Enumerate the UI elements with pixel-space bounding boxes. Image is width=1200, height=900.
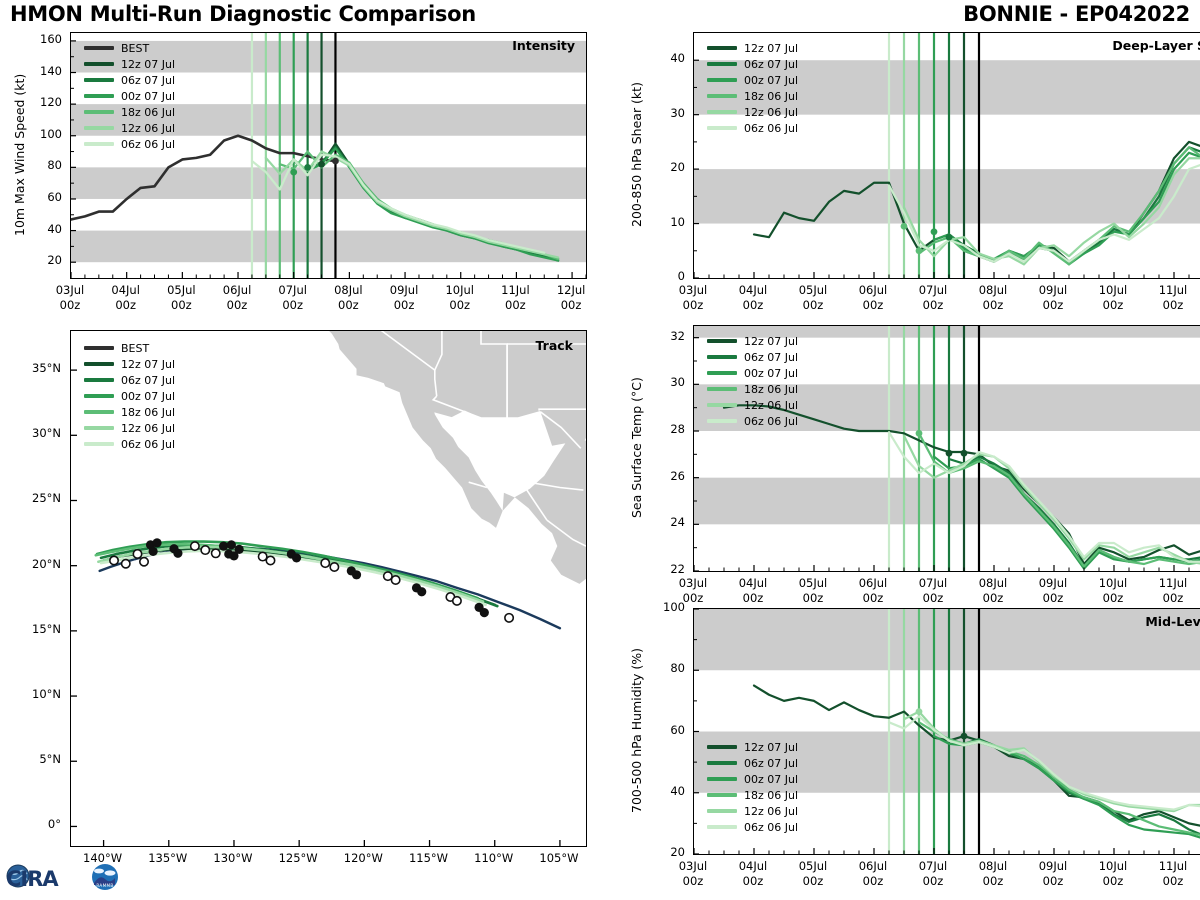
x-tick-sublabel: 00z: [1023, 298, 1083, 312]
x-tick-sublabel: 00z: [485, 298, 545, 312]
track-point-open: [122, 560, 130, 568]
legend-item: 00z 07 Jul: [707, 771, 798, 787]
x-tick-label: 11Jul: [485, 283, 545, 297]
legend-item: 18z 06 Jul: [707, 787, 798, 803]
legend-label: 06z 06 Jul: [121, 438, 175, 451]
legend-swatch: [84, 362, 114, 366]
track-point-filled: [292, 553, 301, 562]
series-marker: [901, 223, 908, 230]
legend-label: 18z 06 Jul: [744, 383, 798, 396]
x-tick-label: 07Jul: [903, 576, 963, 590]
x-tick-label: 05Jul: [783, 859, 843, 873]
x-tick-sublabel: 00z: [430, 298, 490, 312]
x-tick-label: 08Jul: [963, 859, 1023, 873]
legend-swatch: [707, 403, 737, 407]
track-point-filled: [219, 542, 228, 551]
track-point-open: [321, 559, 329, 567]
legend-item: 12z 06 Jul: [707, 803, 798, 819]
series-marker: [916, 430, 923, 437]
x-tick-sublabel: 00z: [903, 591, 963, 605]
legend-item: 06z 06 Jul: [84, 136, 175, 152]
legend-label: 12z 06 Jul: [744, 805, 798, 818]
track-point-open: [266, 556, 274, 564]
x-tick-label: 04Jul: [96, 283, 156, 297]
x-tick-label: 04Jul: [723, 859, 783, 873]
legend-label: 12z 06 Jul: [744, 106, 798, 119]
legend-label: 00z 07 Jul: [744, 74, 798, 87]
x-tick-sublabel: 00z: [1143, 591, 1200, 605]
x-tick-sublabel: 00z: [663, 298, 723, 312]
legend-label: 18z 06 Jul: [121, 106, 175, 119]
page-title: HMON Multi-Run Diagnostic Comparison: [10, 2, 476, 26]
legend-item: 06z 07 Jul: [707, 755, 798, 771]
x-tick-label: 10Jul: [1083, 283, 1143, 297]
x-tick-label: 11Jul: [1143, 576, 1200, 590]
legend-label: 06z 07 Jul: [744, 351, 798, 364]
legend-item: 12z 07 Jul: [707, 40, 798, 56]
legend-swatch: [84, 378, 114, 382]
x-tick-label: 03Jul: [663, 283, 723, 297]
x-tick-label: 05Jul: [783, 576, 843, 590]
legend-swatch: [707, 110, 737, 114]
legend-item: 12z 06 Jul: [707, 104, 798, 120]
x-tick-sublabel: 00z: [963, 874, 1023, 888]
legend-item: 18z 06 Jul: [84, 104, 175, 120]
x-tick-sublabel: 00z: [151, 298, 211, 312]
legend-label: 12z 07 Jul: [744, 42, 798, 55]
track-point-filled: [152, 538, 161, 547]
x-tick-label: 12Jul: [541, 283, 601, 297]
legend-track: BEST12z 07 Jul06z 07 Jul00z 07 Jul18z 06…: [84, 340, 175, 452]
x-tick-label: 09Jul: [1023, 859, 1083, 873]
legend-item: 18z 06 Jul: [84, 404, 175, 420]
shaded-band: [71, 167, 586, 199]
legend-label: 12z 07 Jul: [744, 335, 798, 348]
x-tick-sublabel: 00z: [783, 298, 843, 312]
legend-swatch: [707, 825, 737, 829]
track-point-open: [191, 542, 199, 550]
legend-label: 06z 07 Jul: [744, 757, 798, 770]
x-tick-sublabel: 00z: [263, 298, 323, 312]
lon-tick-label: 105°W: [524, 851, 594, 865]
legend-swatch: [84, 142, 114, 146]
track-point-open: [453, 597, 461, 605]
legend-label: 06z 07 Jul: [121, 374, 175, 387]
x-tick-sublabel: 00z: [963, 298, 1023, 312]
series-marker: [332, 158, 339, 165]
panel-track: 0°5°N10°N15°N20°N25°N30°N35°N140°W135°W1…: [8, 330, 591, 885]
lon-tick-label: 115°W: [394, 851, 464, 865]
lat-tick-label: 5°N: [8, 752, 61, 766]
track-point-open: [110, 556, 118, 564]
legend-item: 06z 06 Jul: [84, 436, 175, 452]
legend-swatch: [707, 419, 737, 423]
lat-tick-label: 15°N: [8, 622, 61, 636]
panel-rh: 2040608010003Jul00z04Jul00z05Jul00z06Jul…: [625, 608, 1200, 899]
legend-swatch: [84, 394, 114, 398]
x-tick-label: 08Jul: [963, 283, 1023, 297]
x-tick-label: 09Jul: [1023, 283, 1083, 297]
x-tick-sublabel: 00z: [1143, 298, 1200, 312]
track-point-open: [212, 549, 220, 557]
track-point-open: [330, 563, 338, 571]
legend-label: 12z 06 Jul: [121, 422, 175, 435]
legend-swatch: [84, 110, 114, 114]
series-marker: [318, 161, 325, 168]
x-tick-sublabel: 00z: [1083, 591, 1143, 605]
x-tick-label: 04Jul: [723, 283, 783, 297]
legend-label: 06z 06 Jul: [744, 821, 798, 834]
x-tick-label: 06Jul: [843, 283, 903, 297]
legend-rh: 12z 07 Jul06z 07 Jul00z 07 Jul18z 06 Jul…: [707, 739, 798, 835]
x-tick-label: 03Jul: [663, 576, 723, 590]
legend-swatch: [84, 62, 114, 66]
legend-item: 12z 07 Jul: [84, 356, 175, 372]
lat-tick-label: 20°N: [8, 557, 61, 571]
legend-item: 06z 06 Jul: [707, 120, 798, 136]
legend-swatch: [707, 761, 737, 765]
legend-item: 00z 07 Jul: [84, 88, 175, 104]
legend-item: 00z 07 Jul: [707, 72, 798, 88]
x-tick-sublabel: 00z: [1023, 874, 1083, 888]
series-marker: [961, 733, 968, 740]
legend-swatch: [84, 410, 114, 414]
legend-label: 00z 07 Jul: [744, 773, 798, 786]
legend-swatch: [84, 346, 114, 350]
legend-label: BEST: [121, 342, 149, 355]
x-tick-label: 11Jul: [1143, 283, 1200, 297]
legend-item: 00z 07 Jul: [84, 388, 175, 404]
legend-swatch: [707, 371, 737, 375]
series-marker: [916, 708, 923, 715]
x-tick-label: 06Jul: [843, 576, 903, 590]
legend-label: 00z 07 Jul: [744, 367, 798, 380]
x-tick-sublabel: 00z: [96, 298, 156, 312]
track-point-filled: [235, 545, 244, 554]
x-tick-sublabel: 00z: [1083, 298, 1143, 312]
track-point-filled: [352, 570, 361, 579]
legend-item: 06z 07 Jul: [707, 56, 798, 72]
x-tick-sublabel: 00z: [1083, 874, 1143, 888]
x-tick-sublabel: 00z: [40, 298, 100, 312]
series-marker: [304, 164, 311, 171]
x-tick-label: 05Jul: [151, 283, 211, 297]
series-marker: [931, 228, 938, 235]
legend-item: 18z 06 Jul: [707, 381, 798, 397]
track-point-filled: [417, 587, 426, 596]
legend-swatch: [84, 126, 114, 130]
track-point-open: [140, 558, 148, 566]
x-tick-sublabel: 00z: [903, 298, 963, 312]
legend-swatch: [707, 777, 737, 781]
legend-swatch: [707, 387, 737, 391]
track-point-filled: [227, 540, 236, 549]
track-point-open: [133, 550, 141, 558]
x-tick-label: 06Jul: [207, 283, 267, 297]
legend-swatch: [707, 339, 737, 343]
lon-tick-label: 120°W: [328, 851, 398, 865]
legend-item: 06z 06 Jul: [707, 413, 798, 429]
legend-label: BEST: [121, 42, 149, 55]
legend-swatch: [707, 126, 737, 130]
legend-item: 18z 06 Jul: [707, 88, 798, 104]
legend-swatch: [84, 442, 114, 446]
x-tick-label: 04Jul: [723, 576, 783, 590]
legend-item: 12z 07 Jul: [707, 333, 798, 349]
legend-label: 12z 07 Jul: [121, 58, 175, 71]
legend-item: 06z 07 Jul: [84, 72, 175, 88]
x-tick-sublabel: 00z: [207, 298, 267, 312]
legend-swatch: [707, 62, 737, 66]
svg-text:CIRA: CIRA: [6, 867, 59, 891]
map-landmass: [302, 331, 586, 584]
x-tick-label: 09Jul: [374, 283, 434, 297]
track-point-open: [391, 576, 399, 584]
legend-label: 18z 06 Jul: [121, 406, 175, 419]
x-tick-sublabel: 00z: [903, 874, 963, 888]
lat-tick-label: 10°N: [8, 687, 61, 701]
x-tick-label: 03Jul: [40, 283, 100, 297]
legend-item: BEST: [84, 40, 175, 56]
x-tick-label: 09Jul: [1023, 576, 1083, 590]
legend-label: 18z 06 Jul: [744, 90, 798, 103]
y-axis-label: Sea Surface Temp (°C): [629, 325, 644, 570]
x-tick-label: 06Jul: [843, 859, 903, 873]
x-tick-label: 10Jul: [1083, 859, 1143, 873]
legend-swatch: [707, 78, 737, 82]
panel-title: Mid-Level RH: [693, 614, 1200, 629]
panel-intensity: 2040608010012014016003Jul00z04Jul00z05Ju…: [8, 32, 591, 323]
track-point-open: [201, 546, 209, 554]
lat-tick-label: 30°N: [8, 426, 61, 440]
x-tick-sublabel: 00z: [723, 874, 783, 888]
x-tick-label: 07Jul: [903, 283, 963, 297]
x-tick-label: 03Jul: [663, 859, 723, 873]
legend-swatch: [707, 793, 737, 797]
x-tick-sublabel: 00z: [783, 874, 843, 888]
legend-label: 12z 07 Jul: [744, 741, 798, 754]
legend-swatch: [707, 809, 737, 813]
y-axis-label: 200-850 hPa Shear (kt): [629, 32, 644, 277]
y-axis-label: 700-500 hPa Humidity (%): [629, 608, 644, 853]
track-point-filled: [149, 547, 158, 556]
legend-sst: 12z 07 Jul06z 07 Jul00z 07 Jul18z 06 Jul…: [707, 333, 798, 429]
legend-swatch: [84, 46, 114, 50]
lon-tick-label: 135°W: [133, 851, 203, 865]
page-header: HMON Multi-Run Diagnostic Comparison BON…: [0, 0, 1200, 30]
legend-label: 06z 06 Jul: [744, 122, 798, 135]
track-point-filled: [480, 608, 489, 617]
x-tick-label: 08Jul: [963, 576, 1023, 590]
storm-title: BONNIE - EP042022: [963, 2, 1190, 26]
legend-swatch: [84, 78, 114, 82]
legend-item: 00z 07 Jul: [707, 365, 798, 381]
legend-swatch: [707, 94, 737, 98]
legend-swatch: [707, 46, 737, 50]
legend-item: 06z 07 Jul: [707, 349, 798, 365]
x-tick-sublabel: 00z: [843, 298, 903, 312]
x-tick-sublabel: 00z: [723, 591, 783, 605]
shaded-band: [694, 478, 1200, 525]
x-tick-label: 08Jul: [318, 283, 378, 297]
legend-item: 12z 07 Jul: [707, 739, 798, 755]
svg-text:RAMMB: RAMMB: [96, 883, 113, 888]
x-tick-label: 07Jul: [903, 859, 963, 873]
series-marker: [916, 247, 923, 254]
track-point-filled: [173, 549, 182, 558]
x-tick-label: 07Jul: [263, 283, 323, 297]
legend-label: 06z 06 Jul: [744, 415, 798, 428]
lon-tick-label: 130°W: [198, 851, 268, 865]
x-tick-label: 11Jul: [1143, 859, 1200, 873]
shaded-band: [694, 169, 1200, 223]
legend-label: 00z 07 Jul: [121, 390, 175, 403]
legend-intensity: BEST12z 07 Jul06z 07 Jul00z 07 Jul18z 06…: [84, 40, 175, 152]
x-tick-sublabel: 00z: [723, 298, 783, 312]
legend-swatch: [707, 355, 737, 359]
legend-swatch: [84, 426, 114, 430]
x-tick-sublabel: 00z: [963, 591, 1023, 605]
lat-tick-label: 35°N: [8, 361, 61, 375]
x-tick-label: 05Jul: [783, 283, 843, 297]
series-marker: [946, 234, 953, 241]
legend-label: 12z 06 Jul: [744, 399, 798, 412]
cira-logo: CIRA RAMMB: [4, 856, 124, 898]
lon-tick-label: 110°W: [459, 851, 529, 865]
legend-item: 12z 06 Jul: [84, 420, 175, 436]
legend-shear: 12z 07 Jul06z 07 Jul00z 07 Jul18z 06 Jul…: [707, 40, 798, 136]
lon-tick-label: 125°W: [263, 851, 333, 865]
legend-item: 06z 07 Jul: [84, 372, 175, 388]
lat-tick-label: 0°: [8, 817, 61, 831]
track-point-open: [505, 614, 513, 622]
legend-label: 12z 06 Jul: [121, 122, 175, 135]
legend-label: 18z 06 Jul: [744, 789, 798, 802]
legend-label: 06z 06 Jul: [121, 138, 175, 151]
series-marker: [946, 450, 953, 457]
x-tick-sublabel: 00z: [1143, 874, 1200, 888]
x-tick-sublabel: 00z: [541, 298, 601, 312]
legend-label: 12z 07 Jul: [121, 358, 175, 371]
x-tick-label: 10Jul: [430, 283, 490, 297]
panel-shear: 01020304003Jul00z04Jul00z05Jul00z06Jul00…: [625, 32, 1200, 323]
legend-label: 06z 07 Jul: [744, 58, 798, 71]
y-axis-label: 10m Max Wind Speed (kt): [12, 32, 27, 277]
x-tick-sublabel: 00z: [843, 874, 903, 888]
x-tick-sublabel: 00z: [783, 591, 843, 605]
x-tick-label: 10Jul: [1083, 576, 1143, 590]
legend-item: 12z 07 Jul: [84, 56, 175, 72]
legend-swatch: [707, 745, 737, 749]
panel-sst: 22242628303203Jul00z04Jul00z05Jul00z06Ju…: [625, 325, 1200, 616]
legend-label: 00z 07 Jul: [121, 90, 175, 103]
legend-item: 12z 06 Jul: [707, 397, 798, 413]
legend-swatch: [84, 94, 114, 98]
series-marker: [961, 450, 968, 457]
legend-item: 12z 06 Jul: [84, 120, 175, 136]
series-marker: [290, 169, 297, 176]
x-tick-sublabel: 00z: [1023, 591, 1083, 605]
legend-item: 06z 06 Jul: [707, 819, 798, 835]
x-tick-sublabel: 00z: [374, 298, 434, 312]
legend-label: 06z 07 Jul: [121, 74, 175, 87]
legend-item: BEST: [84, 340, 175, 356]
x-tick-sublabel: 00z: [663, 874, 723, 888]
x-tick-sublabel: 00z: [318, 298, 378, 312]
x-tick-sublabel: 00z: [843, 591, 903, 605]
lat-tick-label: 25°N: [8, 491, 61, 505]
